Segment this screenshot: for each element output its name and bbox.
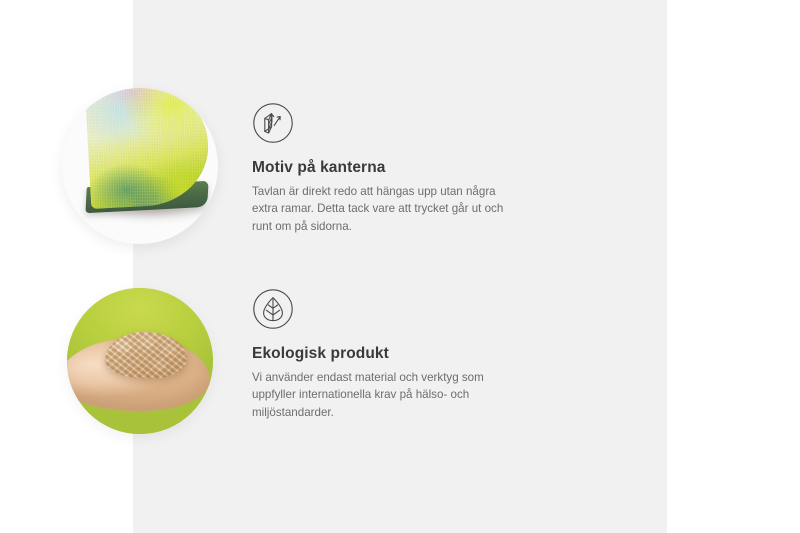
wood-chips (105, 332, 187, 379)
eco-photo-background (67, 288, 213, 434)
feature-text-block-1: Motiv på kanterna Tavlan är direkt redo … (252, 88, 514, 235)
canvas-wrapped-edge-icon (252, 102, 514, 149)
canvas-corner-photo (62, 88, 218, 244)
product-feature-banner: Motiv på kanterna Tavlan är direkt redo … (0, 0, 800, 533)
content-panel (133, 0, 667, 533)
feature-title: Motiv på kanterna (252, 159, 514, 178)
leaf-icon (252, 288, 524, 335)
canvas-corner-artwork (80, 88, 218, 234)
hands-holding-wood-chips-photo (67, 288, 213, 434)
feature-title: Ekologisk produkt (252, 345, 524, 364)
feature-body: Tavlan är direkt redo att hängas upp uta… (252, 183, 514, 236)
feature-body: Vi använder endast material och verktyg … (252, 369, 524, 422)
feature-row-motiv-pa-kanterna: Motiv på kanterna Tavlan är direkt redo … (62, 88, 514, 244)
feature-row-ekologisk-produkt: Ekologisk produkt Vi använder endast mat… (67, 288, 524, 434)
feature-text-block-2: Ekologisk produkt Vi använder endast mat… (252, 288, 524, 421)
